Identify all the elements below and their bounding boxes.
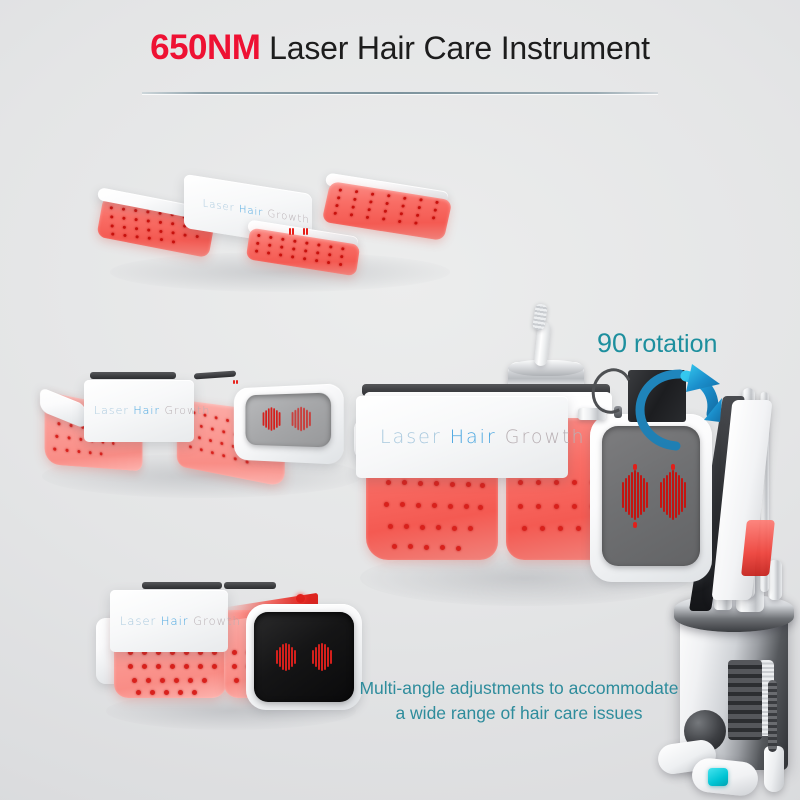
laser-indicator-left-b (633, 522, 637, 528)
device-top-bar (142, 582, 222, 589)
caption-line-2: a wide range of hair care issues (335, 701, 703, 726)
machine-nozzle (764, 746, 784, 792)
brand-logo: Laser Hair Growth (120, 614, 241, 628)
laser-emitter-left (261, 406, 284, 432)
brand-word-1: Laser (94, 404, 129, 417)
machine-rod (768, 680, 777, 752)
brand-word-2: Hair (133, 404, 160, 417)
page-header: 650NM Laser Hair Care Instrument (0, 28, 800, 68)
device-angled-mid: Laser Hair Growth (42, 368, 362, 498)
laser-indicator-dot (296, 594, 305, 603)
device-top-bar (194, 371, 236, 380)
device-folded-bottom: Laser Hair Growth (96, 580, 366, 730)
brand-word-3: Growth (164, 404, 210, 417)
laser-emitter-right (290, 405, 315, 432)
device-top-bar (224, 582, 276, 589)
rotation-word: rotation (634, 330, 717, 358)
title-rest: Laser Hair Care Instrument (269, 30, 650, 66)
laser-indicator-dot (232, 380, 242, 384)
caption-line-1: Multi-angle adjustments to accommodate (335, 676, 703, 701)
brand-logo: Laser Hair Growth (380, 426, 586, 448)
brand-logo: Laser Hair Growth (94, 404, 210, 417)
machine-gear (728, 660, 762, 740)
laser-emitter-left (274, 642, 300, 672)
laser-emitter-right (310, 642, 336, 672)
brand-word-2: Hair (161, 614, 189, 628)
brand-word-3: Growth (505, 426, 586, 448)
laser-emitter-left (620, 470, 650, 520)
feature-caption: Multi-angle adjustments to accommodate a… (335, 676, 703, 726)
laser-emitter-indicator (286, 228, 312, 236)
title-highlight: 650NM (150, 28, 260, 67)
rotation-callout-label: 90 rotation (597, 328, 717, 359)
device-flat-top: Laser Hair Growth (100, 180, 460, 290)
rotation-degrees: 90 (597, 328, 627, 358)
header-divider (142, 92, 658, 94)
brand-word-1: Laser (120, 614, 156, 628)
machine-red-strip (741, 520, 775, 576)
brand-word-2: Hair (450, 426, 497, 448)
machine-accent-button[interactable] (708, 768, 728, 786)
product-marketing-image: 650NM Laser Hair Care Instrument Laser H… (0, 0, 800, 800)
page-title: 650NM Laser Hair Care Instrument (0, 28, 800, 68)
brand-word-1: Laser (380, 426, 442, 448)
laser-emitter-right (658, 470, 688, 520)
rotation-arrow-icon (626, 358, 736, 468)
device-top-bar (90, 372, 176, 379)
device-face-panel (246, 393, 332, 448)
